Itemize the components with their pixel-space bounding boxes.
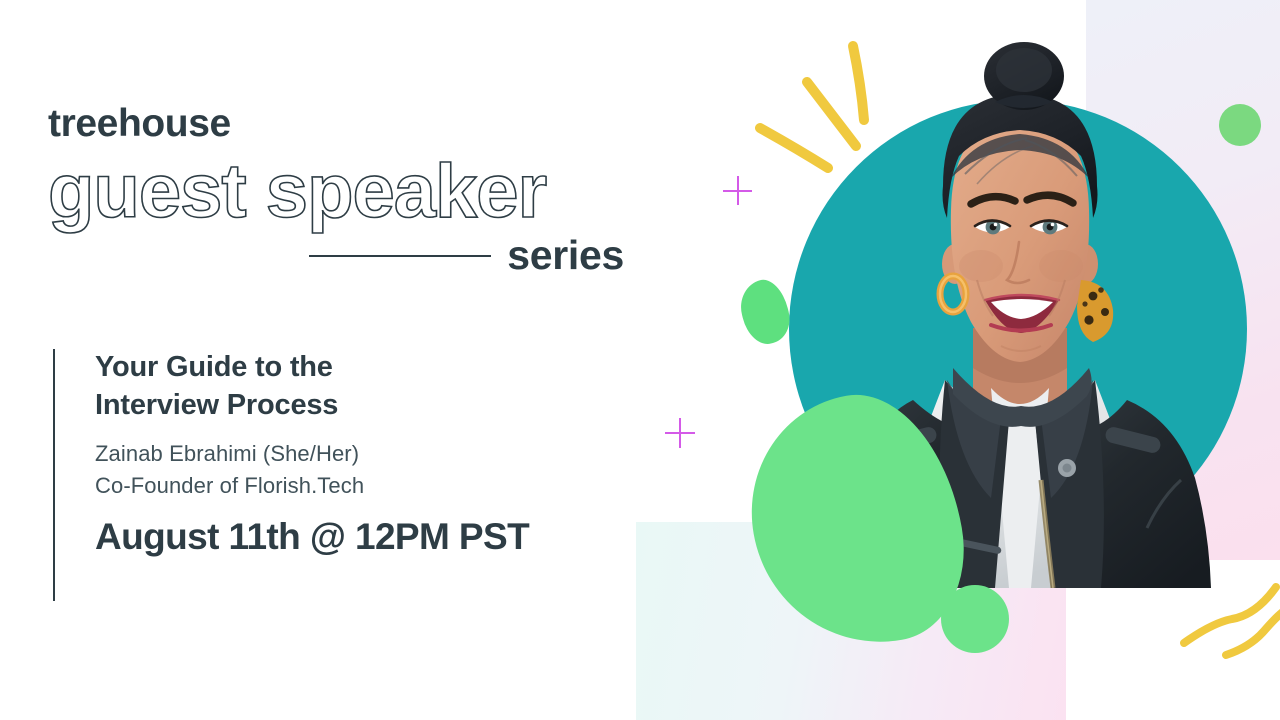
green-bean-small xyxy=(735,275,795,348)
brand-name: treehouse xyxy=(48,104,648,143)
brand-lockup: treehouse guest speaker series xyxy=(48,104,648,276)
green-circle-upper xyxy=(1219,104,1261,146)
speaker-role: Co-Founder of Florish.Tech xyxy=(95,470,653,501)
plus-mark-top-icon xyxy=(723,176,752,205)
series-word: series xyxy=(507,235,624,276)
speaker-name: Zainab Ebrahimi (She/Her) xyxy=(95,438,653,469)
event-details: Your Guide to the Interview Process Zain… xyxy=(53,349,653,601)
series-divider-rule xyxy=(309,255,491,257)
wave-lines-icon xyxy=(1172,575,1280,660)
promo-slide: treehouse guest speaker series Your Guid… xyxy=(0,0,1280,720)
talk-title: Your Guide to the Interview Process xyxy=(95,349,653,424)
sparkle-dashes-icon xyxy=(752,36,892,186)
event-datetime: August 11th @ 12PM PST xyxy=(95,517,653,558)
green-circle-lower xyxy=(941,585,1009,653)
series-title: guest speaker xyxy=(48,151,648,233)
series-row: series xyxy=(48,235,624,276)
plus-mark-lower-icon xyxy=(665,418,695,448)
